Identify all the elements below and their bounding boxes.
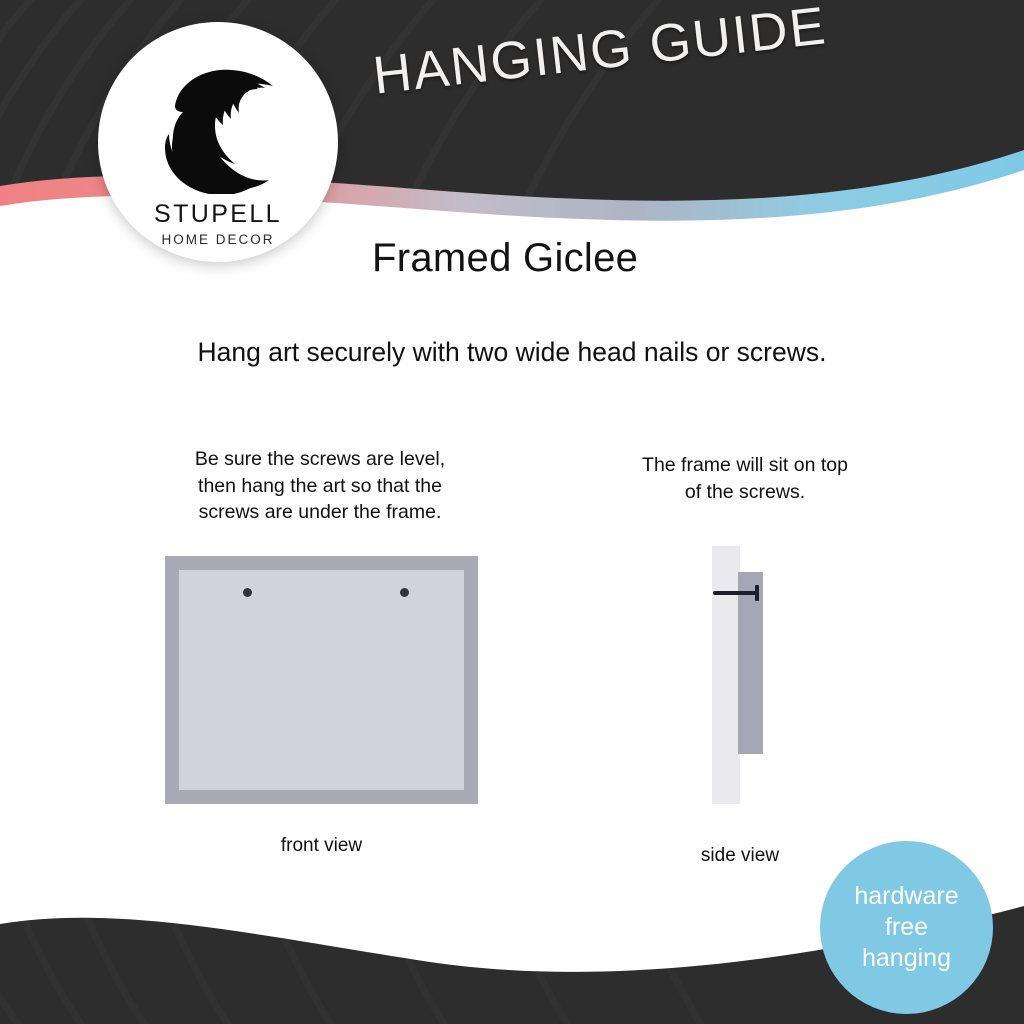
front-caption-line-2: then hang the art so that the bbox=[150, 473, 490, 500]
side-view-frame-bar bbox=[738, 572, 763, 754]
stupell-swirl-s-icon bbox=[157, 62, 279, 194]
front-view-caption: Be sure the screws are level, then hang … bbox=[150, 446, 490, 526]
nail-head-icon bbox=[755, 585, 759, 601]
nail-icon bbox=[713, 591, 758, 595]
side-caption-line-2: of the screws. bbox=[600, 479, 890, 506]
front-view-mat-area bbox=[179, 570, 464, 790]
front-view-frame-diagram bbox=[165, 556, 478, 804]
brand-logo-badge: STUPELL HOME DECOR bbox=[98, 22, 338, 262]
badge-line-1: hardware bbox=[854, 881, 958, 912]
front-caption-line-3: screws are under the frame. bbox=[150, 499, 490, 526]
front-caption-line-1: Be sure the screws are level, bbox=[150, 446, 490, 473]
side-view-frame-diagram bbox=[700, 546, 780, 804]
brand-tagline: HOME DECOR bbox=[161, 232, 274, 247]
hanging-guide-infographic: STUPELL HOME DECOR HANGING GUIDE Framed … bbox=[0, 0, 1024, 1024]
badge-line-2: free bbox=[885, 912, 928, 943]
brand-name: STUPELL bbox=[154, 200, 282, 229]
hardware-free-hanging-badge: hardware free hanging bbox=[820, 841, 993, 1014]
screw-dot-right bbox=[400, 588, 409, 597]
side-caption-line-1: The frame will sit on top bbox=[600, 452, 890, 479]
main-instruction-text: Hang art securely with two wide head nai… bbox=[0, 337, 1024, 368]
side-view-label: side view bbox=[650, 845, 830, 867]
badge-line-3: hanging bbox=[862, 943, 951, 974]
screw-dot-left bbox=[243, 588, 252, 597]
side-view-caption: The frame will sit on top of the screws. bbox=[600, 452, 890, 505]
front-view-label: front view bbox=[165, 835, 478, 857]
side-view-wall bbox=[712, 546, 740, 804]
product-type-label: Framed Giclee bbox=[372, 236, 638, 281]
